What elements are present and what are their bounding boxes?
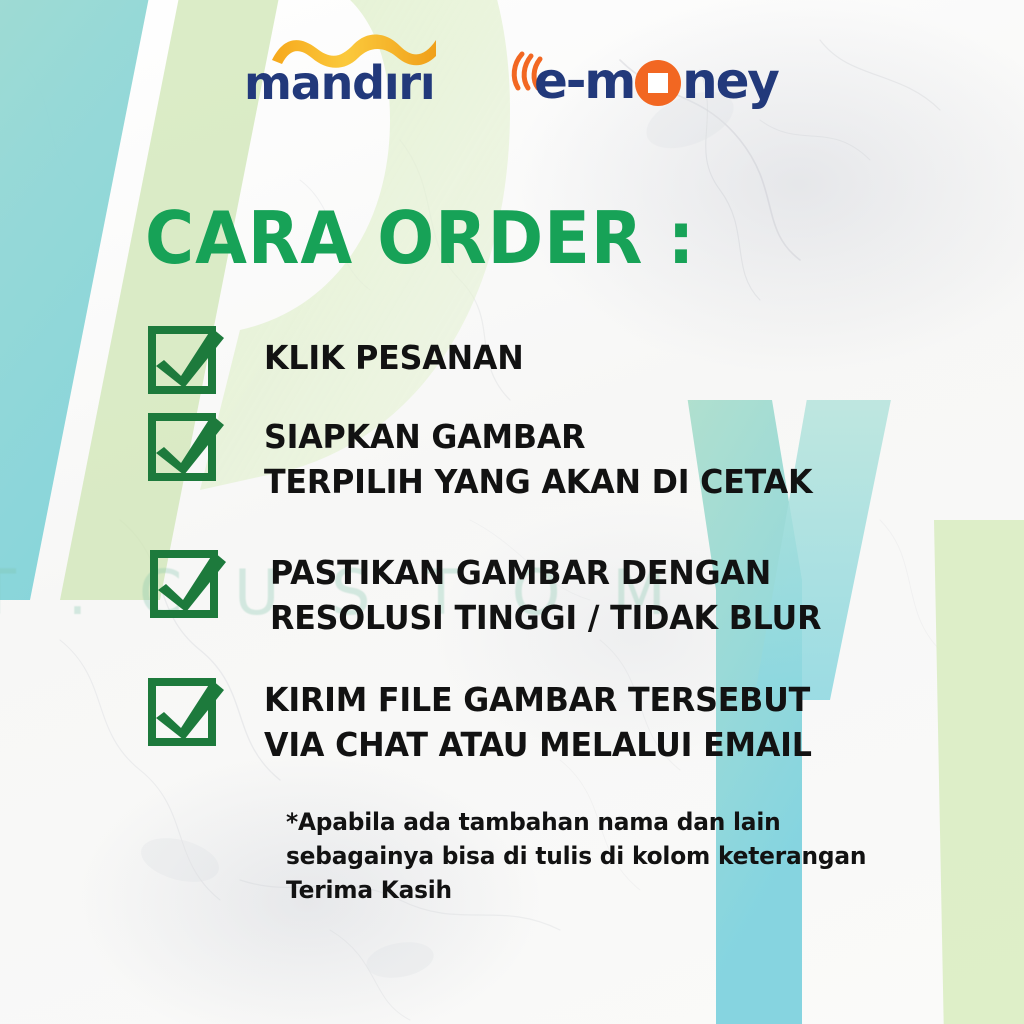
list-item-label: SIAPKAN GAMBAR TERPILIH YANG AKAN DI CET… — [264, 415, 812, 504]
list-item: KLIK PESANAN — [148, 318, 534, 394]
checkbox-checked-icon — [148, 318, 230, 394]
checkbox-checked-icon — [150, 542, 232, 618]
footnote-text: *Apabila ada tambahan nama dan lain seba… — [286, 805, 866, 907]
list-item-label: PASTIKAN GAMBAR DENGAN RESOLUSI TINGGI /… — [270, 551, 821, 640]
list-item-label: KLIK PESANAN — [264, 336, 524, 381]
list-item: KIRIM FILE GAMBAR TERSEBUT VIA CHAT ATAU… — [148, 670, 835, 767]
poster-canvas: T . C U S T O M mandırı — [0, 0, 1024, 1024]
list-item: SIAPKAN GAMBAR TERPILIH YANG AKAN DI CET… — [148, 405, 835, 504]
list-item-label: KIRIM FILE GAMBAR TERSEBUT VIA CHAT ATAU… — [264, 678, 812, 767]
checkbox-checked-icon — [148, 405, 230, 481]
checkbox-checked-icon — [148, 670, 230, 746]
list-item: PASTIKAN GAMBAR DENGAN RESOLUSI TINGGI /… — [150, 542, 844, 640]
